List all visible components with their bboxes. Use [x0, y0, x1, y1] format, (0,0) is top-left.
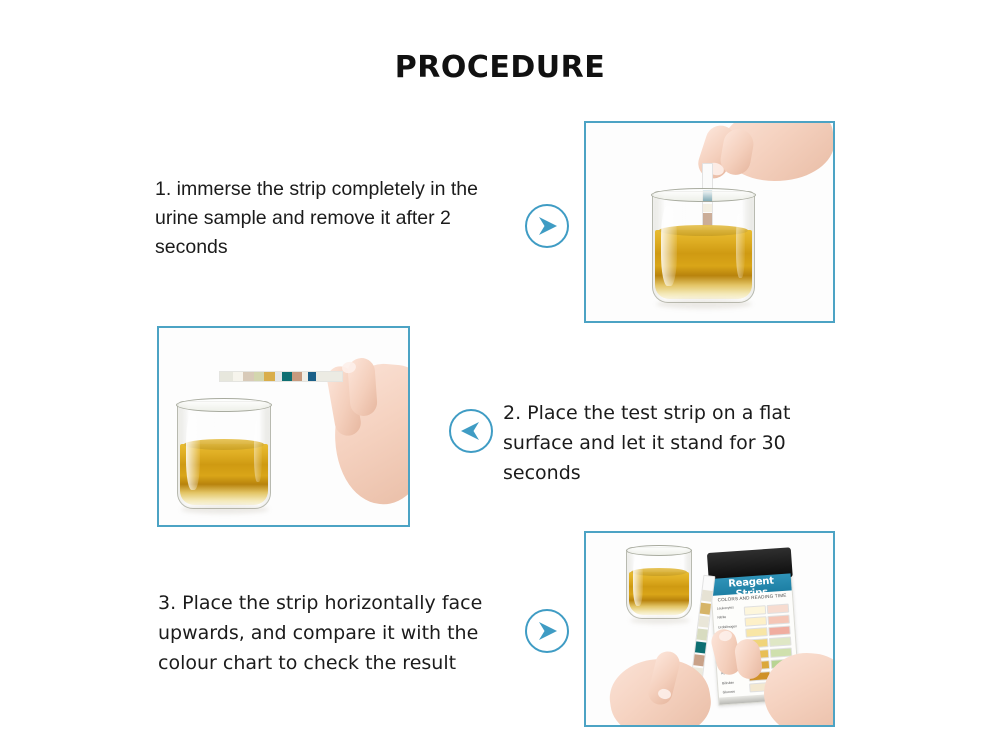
- strip-pad: [220, 372, 233, 381]
- liquid-surface: [659, 225, 748, 236]
- chart-swatch: [767, 615, 790, 626]
- step-3-text: 3. Place the strip horizontally face upw…: [158, 588, 518, 678]
- strip-pad: [698, 616, 709, 628]
- test-strip: [219, 371, 343, 382]
- urine-glass: [652, 191, 755, 303]
- step-1-text: 1. immerse the strip completely in the u…: [155, 175, 500, 262]
- strip-pad: [254, 372, 264, 381]
- glass-shadow: [181, 505, 269, 514]
- strip-pad: [697, 628, 708, 640]
- scene-compare-chart: Reagent Strips COLORS AND READING TIME L…: [586, 533, 833, 725]
- analyte-name: Glucose: [723, 689, 749, 695]
- liquid-surface: [631, 568, 686, 576]
- strip-pad: [275, 372, 282, 381]
- analyte-name: Leukocytes: [717, 605, 743, 611]
- urine-glass: [177, 401, 271, 509]
- chart-swatch: [769, 636, 792, 647]
- strip-pad: [243, 372, 254, 381]
- scene-strip-held: [159, 328, 408, 525]
- analyte-name: Bilirubin: [722, 679, 748, 685]
- procedure-infographic: PROCEDURE 1. immerse the strip completel…: [0, 0, 1000, 749]
- strip-pad: [233, 372, 243, 381]
- step-2-image: [157, 326, 410, 527]
- scene-strip-in-glass: [586, 123, 833, 321]
- urine-liquid: [655, 230, 752, 299]
- strip-pad: [695, 641, 706, 653]
- glass-rim: [176, 398, 272, 412]
- strip-pad: [264, 372, 275, 381]
- urine-liquid: [180, 444, 268, 505]
- arrow-right-circle-icon: [525, 609, 569, 653]
- strip-pad: [701, 590, 712, 602]
- glass-rim: [626, 545, 693, 556]
- chart-swatch: [744, 605, 767, 616]
- page-title: PROCEDURE: [0, 50, 1000, 85]
- glass-shadow: [630, 617, 690, 624]
- step-1-image: [584, 121, 835, 323]
- strip-pad: [700, 603, 711, 615]
- chart-swatch: [744, 616, 767, 627]
- urine-glass: [626, 547, 692, 619]
- arrow-right-circle-icon: [525, 204, 569, 248]
- step-2-text: 2. Place the test strip on a flat surfac…: [503, 398, 833, 488]
- chart-swatch: [745, 627, 768, 638]
- strip-pad: [292, 372, 302, 381]
- chart-swatch: [767, 604, 790, 615]
- glass-shadow: [656, 299, 752, 309]
- step-3-image: Reagent Strips COLORS AND READING TIME L…: [584, 531, 835, 727]
- chart-swatch: [768, 626, 791, 637]
- arrow-left-circle-icon: [449, 409, 493, 453]
- strip-pad: [282, 372, 292, 381]
- strip-pad: [308, 372, 317, 381]
- strip-pad: [693, 654, 704, 666]
- liquid-surface: [184, 439, 265, 450]
- strip-pad: [316, 372, 342, 381]
- glass-rim: [651, 188, 756, 202]
- urine-liquid: [629, 572, 689, 615]
- analyte-name: Nitrite: [717, 614, 743, 620]
